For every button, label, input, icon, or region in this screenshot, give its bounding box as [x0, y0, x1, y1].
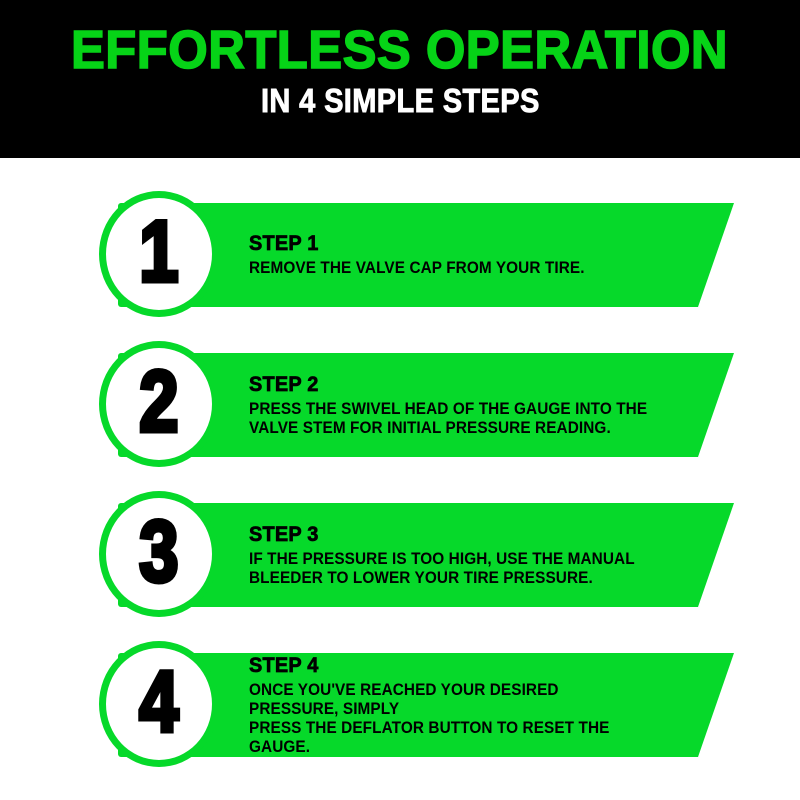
step-title: STEP 4 [249, 654, 658, 678]
page-title: EFFORTLESS OPERATION [71, 22, 728, 78]
step-description: PRESS THE SWIVEL HEAD OF THE GAUGE INTO … [249, 400, 649, 438]
list-item: 1 STEP 1 REMOVE THE VALVE CAP FROM YOUR … [0, 158, 800, 288]
step-number-badge-3: 3 [99, 491, 219, 617]
step-number-badge-1: 1 [99, 191, 219, 317]
infographic-page: EFFORTLESS OPERATION IN 4 SIMPLE STEPS 1… [0, 0, 800, 800]
list-item: 3 STEP 3 IF THE PRESSURE IS TOO HIGH, US… [0, 458, 800, 588]
list-item: 2 STEP 2 PRESS THE SWIVEL HEAD OF THE GA… [0, 308, 800, 438]
step-text-block-4: STEP 4 ONCE YOU'VE REACHED YOUR DESIRED … [249, 653, 679, 757]
step-text-block-1: STEP 1 REMOVE THE VALVE CAP FROM YOUR TI… [249, 203, 679, 307]
step-number-badge-4: 4 [99, 641, 219, 767]
list-item: 4 STEP 4 ONCE YOU'VE REACHED YOUR DESIRE… [0, 608, 800, 738]
header-banner: EFFORTLESS OPERATION IN 4 SIMPLE STEPS [0, 0, 800, 158]
step-text-block-3: STEP 3 IF THE PRESSURE IS TOO HIGH, USE … [249, 503, 679, 607]
step-number-label: 3 [139, 509, 178, 599]
page-subtitle: IN 4 SIMPLE STEPS [261, 83, 540, 119]
step-title: STEP 1 [249, 232, 658, 256]
step-title: STEP 3 [249, 523, 658, 547]
step-number-label: 4 [139, 659, 178, 749]
steps-list: 1 STEP 1 REMOVE THE VALVE CAP FROM YOUR … [0, 158, 800, 800]
step-description: REMOVE THE VALVE CAP FROM YOUR TIRE. [249, 259, 649, 278]
step-number-label: 2 [139, 359, 178, 449]
step-text-block-2: STEP 2 PRESS THE SWIVEL HEAD OF THE GAUG… [249, 353, 679, 457]
step-number-label: 1 [139, 209, 178, 299]
step-description: IF THE PRESSURE IS TOO HIGH, USE THE MAN… [249, 550, 649, 588]
step-description: ONCE YOU'VE REACHED YOUR DESIRED PRESSUR… [249, 681, 649, 757]
step-number-badge-2: 2 [99, 341, 219, 467]
step-title: STEP 2 [249, 373, 658, 397]
